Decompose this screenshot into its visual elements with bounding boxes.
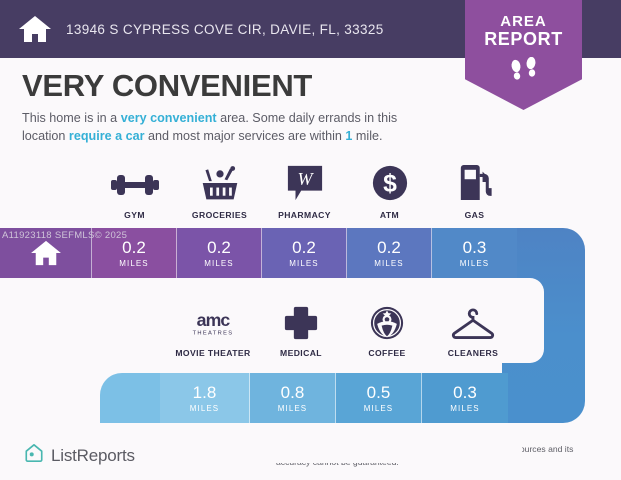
walgreens-w-icon: W (286, 162, 324, 202)
category-icon-row-1: GYM GROCERIES (92, 162, 517, 220)
badge-line-1: AREA (465, 14, 582, 29)
category-icon-row-2: amc THEATRES MOVIE THEATER MEDICAL (168, 300, 516, 358)
category-gym: GYM (92, 162, 177, 220)
category-gas: GAS (432, 162, 517, 220)
distance-value: 0.2 (292, 239, 316, 256)
distance-value: 0.3 (453, 384, 477, 401)
distance-value: 0.8 (281, 384, 305, 401)
distance-unit: MILES (374, 259, 404, 268)
category-label: GYM (124, 210, 145, 220)
dollar-circle-icon: $ (371, 162, 409, 202)
category-coffee: COFFEE (344, 300, 430, 358)
starbucks-icon (370, 300, 404, 340)
distance-value: 1.8 (193, 384, 217, 401)
ribbon-left-connector (100, 373, 160, 423)
distance-cell-movie-theater: 1.8 MILES (160, 373, 250, 423)
category-label: PHARMACY (278, 210, 331, 220)
distance-unit: MILES (364, 404, 394, 413)
category-label: CLEANERS (448, 348, 498, 358)
mls-watermark: A11923118 SEFMLS© 2025 (2, 230, 127, 241)
distance-unit: MILES (289, 259, 319, 268)
category-label: GAS (465, 210, 485, 220)
distance-cell-coffee: 0.5 MILES (336, 373, 422, 423)
distance-unit: MILES (119, 259, 149, 268)
gas-pump-icon (458, 162, 492, 202)
distance-value: 0.2 (122, 239, 146, 256)
category-medical: MEDICAL (258, 300, 344, 358)
summary-part-1: This home is in a (22, 111, 121, 125)
category-pharmacy: W PHARMACY (262, 162, 347, 220)
distance-cell-groceries: 0.2 MILES (177, 228, 262, 278)
category-movie-theater: amc THEATRES MOVIE THEATER (168, 300, 258, 358)
distance-cell-medical: 0.8 MILES (250, 373, 336, 423)
summary-highlight-1: very convenient (121, 111, 217, 125)
category-label: GROCERIES (192, 210, 247, 220)
distance-value: 0.2 (377, 239, 401, 256)
category-groceries: GROCERIES (177, 162, 262, 220)
summary-part-3: and most major services are within (145, 129, 346, 143)
home-icon (18, 14, 52, 44)
category-label: MEDICAL (280, 348, 322, 358)
svg-text:$: $ (383, 171, 397, 198)
category-cleaners: CLEANERS (430, 300, 516, 358)
ribbon-bottom-cutout (122, 423, 522, 463)
amc-theatres-icon: amc THEATRES (182, 300, 244, 340)
listreports-wordmark: ListReports (51, 446, 135, 466)
distance-unit: MILES (460, 259, 490, 268)
listreports-logo: ListReports (24, 443, 135, 468)
distance-unit: MILES (190, 404, 220, 413)
badge-line-2: REPORT (465, 29, 582, 50)
footprints-icon (465, 57, 582, 83)
summary-part-4: mile. (352, 129, 382, 143)
distance-cell-atm: 0.2 MILES (347, 228, 432, 278)
distance-cell-pharmacy: 0.2 MILES (262, 228, 347, 278)
distance-value: 0.2 (207, 239, 231, 256)
page-title: VERY CONVENIENT (22, 68, 312, 104)
distance-unit: MILES (204, 259, 234, 268)
property-address: 13946 S CYPRESS COVE CIR, DAVIE, FL, 333… (66, 22, 384, 37)
distance-cell-cleaners: 0.3 MILES (422, 373, 508, 423)
distance-cell-gas: 0.3 MILES (432, 228, 517, 278)
clothes-hanger-icon (450, 300, 496, 340)
category-atm: $ ATM (347, 162, 432, 220)
medical-cross-icon (284, 300, 318, 340)
summary-text: This home is in a very convenient area. … (22, 110, 442, 146)
dumbbell-icon (109, 162, 161, 202)
distance-unit: MILES (278, 404, 308, 413)
distance-row-2: 1.8 MILES 0.8 MILES 0.5 MILES 0.3 MILES (160, 373, 508, 423)
category-label: COFFEE (368, 348, 405, 358)
svg-text:THEATRES: THEATRES (193, 331, 234, 337)
header-right-sliver (582, 0, 621, 58)
home-icon (30, 239, 62, 267)
svg-text:amc: amc (197, 310, 231, 330)
area-report-badge: AREA REPORT (465, 0, 582, 110)
area-report-page: 13946 S CYPRESS COVE CIR, DAVIE, FL, 333… (0, 0, 621, 480)
distance-value: 0.3 (463, 239, 487, 256)
category-label: MOVIE THEATER (175, 348, 250, 358)
summary-highlight-2: require a car (69, 129, 145, 143)
svg-text:W: W (297, 169, 314, 189)
category-label: ATM (380, 210, 399, 220)
grocery-basket-icon (200, 162, 240, 202)
distance-value: 0.5 (367, 384, 391, 401)
distance-unit: MILES (450, 404, 480, 413)
listreports-house-icon (24, 443, 44, 468)
